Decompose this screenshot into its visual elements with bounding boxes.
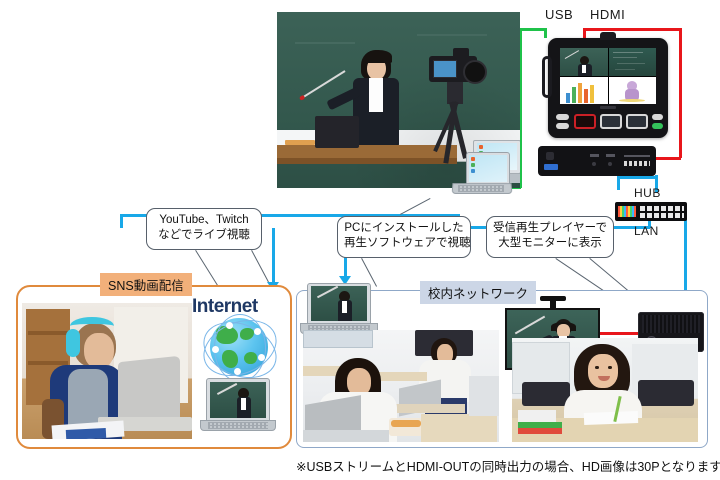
encoder-device bbox=[538, 146, 656, 176]
switcher-chart-thumbnail bbox=[560, 77, 608, 105]
video-switcher-device bbox=[548, 38, 668, 138]
tag-school-network: 校内ネットワーク bbox=[420, 281, 536, 304]
photo-students-laptops bbox=[303, 330, 499, 442]
switcher-button[interactable] bbox=[556, 123, 569, 129]
callout-line: 大型モニターに表示 bbox=[493, 236, 607, 251]
lan-cable-segment bbox=[120, 214, 123, 228]
callout-receiver-player: 受信再生プレイヤーで 大型モニターに表示 bbox=[486, 216, 614, 258]
teacher-laptop bbox=[452, 152, 512, 196]
hdmi-cable-segment bbox=[600, 332, 640, 335]
callout-live-view: YouTube、Twitch などでライブ視聴 bbox=[146, 208, 262, 250]
callout-leader bbox=[400, 198, 431, 215]
switcher-button[interactable] bbox=[600, 114, 622, 129]
switcher-button-live[interactable] bbox=[652, 123, 663, 129]
lan-cable-segment bbox=[617, 176, 657, 179]
callout-line: 再生ソフトウェアで視聴 bbox=[344, 236, 464, 251]
hdmi-cable-segment bbox=[652, 157, 681, 160]
photo-student-smiling bbox=[512, 338, 698, 442]
callout-line: YouTube、Twitch bbox=[153, 213, 255, 228]
callout-leader bbox=[251, 250, 269, 282]
callout-pc-player: PCにインストールした 再生ソフトウェアで視聴 bbox=[337, 216, 471, 258]
lan-cable-segment bbox=[272, 228, 275, 284]
switcher-button[interactable] bbox=[556, 114, 569, 120]
diagram-canvas: USB HDMI bbox=[0, 0, 720, 480]
globe-icon: Internet bbox=[196, 296, 282, 382]
classroom-viewer-laptop bbox=[300, 283, 378, 335]
switcher-button[interactable] bbox=[652, 114, 663, 120]
tag-sns-distribution: SNS動画配信 bbox=[100, 273, 192, 296]
hub-icon bbox=[615, 202, 687, 221]
hdmi-cable-segment bbox=[679, 28, 682, 158]
label-lan: LAN bbox=[634, 224, 659, 238]
label-hdmi: HDMI bbox=[590, 7, 625, 22]
sns-viewer-laptop bbox=[200, 378, 276, 432]
switcher-preview-screen bbox=[560, 48, 656, 104]
label-usb: USB bbox=[545, 7, 573, 22]
switcher-character-thumbnail bbox=[609, 77, 657, 105]
usb-cable-segment bbox=[519, 28, 547, 31]
hdmi-cable-segment bbox=[583, 28, 681, 31]
photo-child-headphones bbox=[22, 303, 192, 439]
headphone-band bbox=[70, 317, 114, 335]
callout-line: 受信再生プレイヤーで bbox=[493, 221, 607, 236]
label-hub: HUB bbox=[634, 186, 661, 200]
switcher-button-record[interactable] bbox=[574, 114, 596, 129]
switcher-button[interactable] bbox=[626, 114, 648, 129]
lan-cable-segment bbox=[617, 176, 620, 190]
footnote-caption: ※USBストリームとHDMI-OUTの同時出力の場合、HD画像は30Pとなります… bbox=[296, 456, 720, 475]
callout-line: などでライブ視聴 bbox=[153, 228, 255, 243]
callout-leader bbox=[195, 250, 218, 286]
callout-line: PCにインストールした bbox=[344, 221, 464, 236]
